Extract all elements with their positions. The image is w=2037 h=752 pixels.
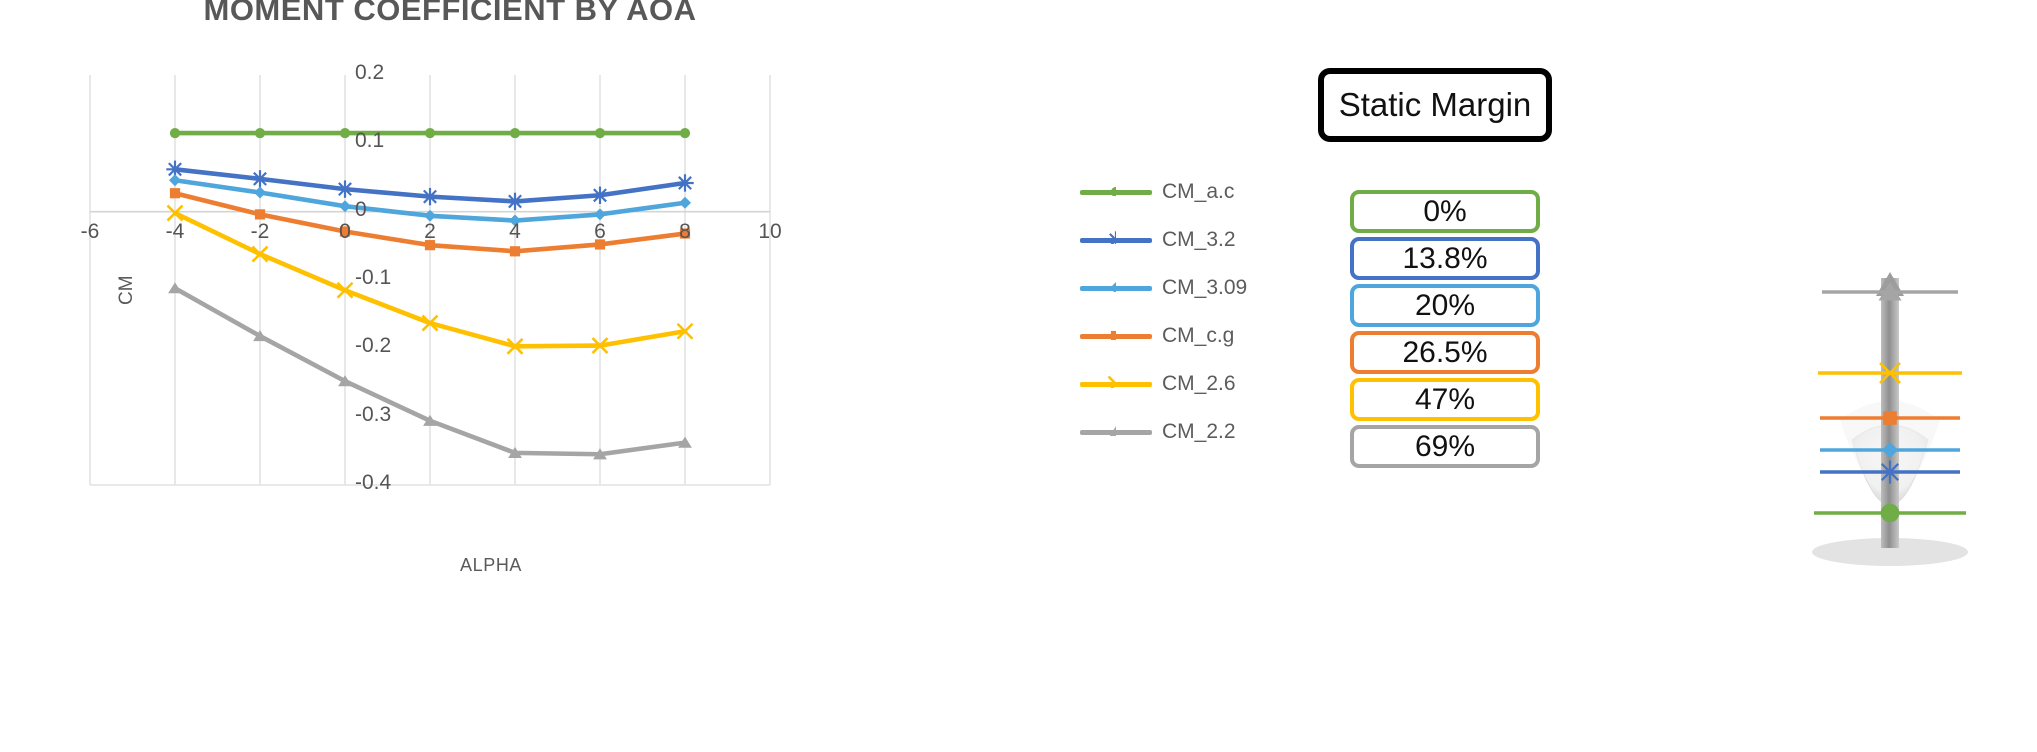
legend-key-icon [1080,325,1152,347]
legend-marker-icon [1101,325,1116,340]
data-point-asterisk [1107,231,1116,244]
x-axis-tick-label: -6 [68,220,112,244]
x-axis-tick-label: 10 [748,220,792,244]
chart-legend: CM_a.cCM_3.2CM_3.09CM_c.gCM_2.6CM_2.2 [1080,168,1310,456]
line-chart-svg [70,55,790,510]
data-point-circle [255,128,265,138]
rocket-diagram [1740,270,2020,570]
legend-item-label: CM_a.c [1162,180,1234,204]
data-point-circle [1881,504,1900,523]
legend-line [1080,382,1152,387]
legend-item-label: CM_3.2 [1162,228,1236,252]
rocket-svg [1740,270,2020,570]
x-axis-tick-label: 6 [578,220,622,244]
x-axis-tick-label: 4 [493,220,537,244]
data-point-cross [1109,377,1117,389]
static-margin-list: 0%13.8%20%26.5%47%69% [1350,190,1540,472]
data-point-square [255,209,265,219]
legend-item-CM_c.g[interactable]: CM_c.g [1080,312,1310,360]
data-point-asterisk [591,187,608,204]
data-point-diamond [254,187,266,199]
x-axis-label: ALPHA [460,555,522,576]
data-point-circle [595,128,605,138]
y-axis-tick-label: -0.3 [355,403,391,427]
static-margin-value-box: 0% [1350,190,1540,233]
data-point-square [1883,411,1897,425]
data-point-square [510,246,520,256]
legend-key-icon [1080,277,1152,299]
x-axis-tick-label: 0 [323,220,367,244]
data-point-diamond [679,197,691,209]
data-point-asterisk [1878,460,1901,483]
data-point-circle [510,128,520,138]
x-axis-tick-label: 8 [663,220,707,244]
data-point-circle [1111,187,1116,196]
legend-item-CM_a.c[interactable]: CM_a.c [1080,168,1310,216]
legend-marker-icon [1101,277,1116,292]
data-point-triangle [168,282,182,293]
legend-line [1080,238,1152,243]
slide-canvas: MOMENT COEFFICIENT BY AOA CM ALPHA 0.20.… [0,0,2037,752]
data-point-triangle [1109,426,1116,436]
data-point-asterisk [336,180,353,197]
data-point-asterisk [506,193,523,210]
data-point-diamond [594,208,606,220]
y-axis-label: CM [116,275,138,305]
legend-item-label: CM_c.g [1162,324,1234,348]
legend-item-CM_3.2[interactable]: CM_3.2 [1080,216,1310,264]
x-axis-tick-label: -2 [238,220,282,244]
x-axis-tick-label: -4 [153,220,197,244]
legend-marker-icon [1101,229,1116,244]
legend-key-icon [1080,421,1152,443]
legend-line [1080,430,1152,435]
y-axis-tick-label: -0.4 [355,471,391,495]
data-point-diamond [169,174,181,186]
y-axis-tick-label: 0.1 [355,129,384,153]
static-margin-value-box: 47% [1350,378,1540,421]
legend-line [1080,286,1152,291]
data-point-circle [170,128,180,138]
static-margin-value-box: 20% [1350,284,1540,327]
data-point-square [170,188,180,198]
legend-key-icon [1080,181,1152,203]
y-axis-tick-label: 0 [355,198,367,222]
legend-marker-icon [1101,421,1116,436]
legend-line [1080,190,1152,195]
static-margin-value-box: 13.8% [1350,237,1540,280]
legend-marker-icon [1101,373,1116,388]
y-axis-tick-label: -0.1 [355,266,391,290]
data-point-asterisk [676,174,693,191]
data-point-diamond [1110,282,1116,292]
data-point-square [1111,331,1116,340]
chart-plot-area: CM ALPHA 0.20.10-0.1-0.2-0.3-0.4-6-4-202… [70,55,790,510]
y-axis-tick-label: 0.2 [355,61,384,85]
legend-item-label: CM_2.6 [1162,372,1236,396]
legend-item-label: CM_3.09 [1162,276,1247,300]
static-margin-value-box: 69% [1350,425,1540,468]
page-title: MOMENT COEFFICIENT BY AOA [0,0,900,28]
data-point-circle [340,128,350,138]
legend-item-CM_3.09[interactable]: CM_3.09 [1080,264,1310,312]
x-axis-tick-label: 2 [408,220,452,244]
static-margin-value-box: 26.5% [1350,331,1540,374]
legend-item-CM_2.6[interactable]: CM_2.6 [1080,360,1310,408]
data-point-asterisk [421,188,438,205]
static-margin-heading-label: Static Margin [1339,86,1532,124]
data-point-circle [680,128,690,138]
legend-item-CM_2.2[interactable]: CM_2.2 [1080,408,1310,456]
legend-key-icon [1080,373,1152,395]
legend-marker-icon [1101,181,1116,196]
data-point-circle [425,128,435,138]
legend-item-label: CM_2.2 [1162,420,1236,444]
data-point-diamond [339,200,351,212]
legend-key-icon [1080,229,1152,251]
y-axis-tick-label: -0.2 [355,334,391,358]
legend-line [1080,334,1152,339]
static-margin-heading: Static Margin [1318,68,1552,142]
data-point-asterisk [251,170,268,187]
